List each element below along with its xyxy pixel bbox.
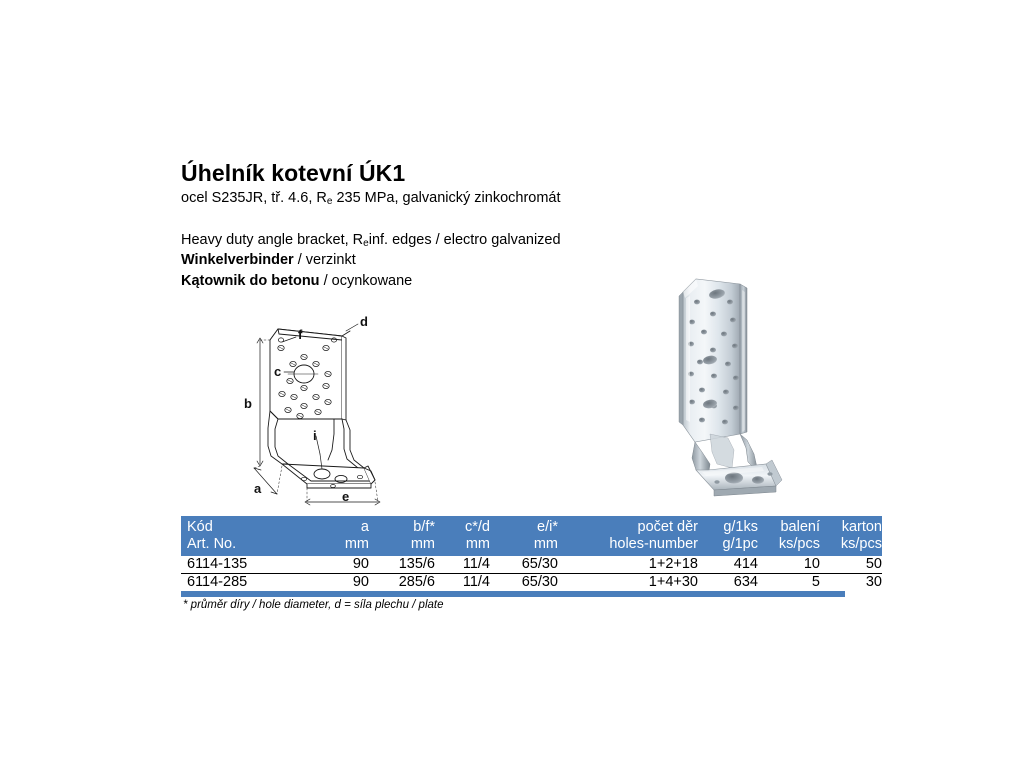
table-row: 6114-285 90 285/6 11/4 65/30 1+4+30 634 … bbox=[181, 574, 882, 592]
header-carton-cz: karton bbox=[820, 516, 882, 536]
drawing-label-i: i bbox=[313, 428, 317, 443]
header-pack-cz: balení bbox=[758, 516, 820, 536]
table-footnote: * průměr díry / hole diameter, d = síla … bbox=[181, 599, 845, 611]
table-row: 6114-135 90 135/6 11/4 65/30 1+2+18 414 … bbox=[181, 556, 882, 574]
header-bf-cz: b/f* bbox=[369, 516, 435, 536]
header-a-cz: a bbox=[311, 516, 369, 536]
cell-a: 90 bbox=[311, 574, 369, 592]
cell-code: 6114-135 bbox=[181, 556, 311, 574]
header-weight-en: g/1pc bbox=[698, 536, 758, 556]
cell-holes: 1+2+18 bbox=[558, 556, 698, 574]
product-photo bbox=[662, 262, 794, 502]
header-holes-en: holes-number bbox=[558, 536, 698, 556]
spec-text-pre: ocel S235JR, tř. 4.6, R bbox=[181, 190, 327, 206]
description-pl-post: / ocynkowane bbox=[320, 273, 413, 289]
header-pack-en: ks/pcs bbox=[758, 536, 820, 556]
cell-weight: 414 bbox=[698, 556, 758, 574]
description-en-subscript: e bbox=[363, 238, 369, 249]
header-cd-cz: c*/d bbox=[435, 516, 490, 536]
header-bf-en: mm bbox=[369, 536, 435, 556]
description-pl-bold: Kątownik do betonu bbox=[181, 273, 320, 289]
specification-table-container: Kód a b/f* c*/d e/i* počet děr g/1ks bal… bbox=[181, 516, 845, 611]
drawing-label-d: d bbox=[360, 316, 368, 329]
product-photo-svg bbox=[662, 262, 794, 502]
description-en-post: inf. edges / electro galvanized bbox=[369, 232, 561, 248]
header-holes-cz: počet děr bbox=[558, 516, 698, 536]
description-en-pre: Heavy duty angle bracket, R bbox=[181, 232, 363, 248]
table-body: 6114-135 90 135/6 11/4 65/30 1+2+18 414 … bbox=[181, 556, 882, 591]
header-code-cz: Kód bbox=[181, 516, 311, 536]
product-spec-line: ocel S235JR, tř. 4.6, Re 235 MPa, galvan… bbox=[181, 189, 861, 207]
cell-bf: 285/6 bbox=[369, 574, 435, 592]
header-cd-en: mm bbox=[435, 536, 490, 556]
cell-carton: 30 bbox=[820, 574, 882, 592]
technical-drawing-svg: b a c d e f i bbox=[238, 316, 398, 516]
description-en: Heavy duty angle bracket, Reinf. edges /… bbox=[181, 230, 861, 251]
table-bottom-accent-bar bbox=[181, 591, 845, 597]
description-de-post: / verzinkt bbox=[294, 252, 356, 268]
cell-pack: 5 bbox=[758, 574, 820, 592]
description-de-bold: Winkelverbinder bbox=[181, 252, 294, 268]
page-title: Úhelník kotevní ÚK1 bbox=[181, 160, 861, 186]
cell-weight: 634 bbox=[698, 574, 758, 592]
cell-cd: 11/4 bbox=[435, 574, 490, 592]
cell-carton: 50 bbox=[820, 556, 882, 574]
header-code-en: Art. No. bbox=[181, 536, 311, 556]
table-header-row-en: Art. No. mm mm mm mm holes-number g/1pc … bbox=[181, 536, 882, 556]
drawing-label-a: a bbox=[254, 481, 262, 496]
drawing-label-b: b bbox=[244, 396, 252, 411]
cell-code: 6114-285 bbox=[181, 574, 311, 592]
cell-cd: 11/4 bbox=[435, 556, 490, 574]
drawing-label-e: e bbox=[342, 489, 349, 504]
header-ei-en: mm bbox=[490, 536, 558, 556]
table-header-row-cz: Kód a b/f* c*/d e/i* počet děr g/1ks bal… bbox=[181, 516, 882, 536]
cell-pack: 10 bbox=[758, 556, 820, 574]
header-a-en: mm bbox=[311, 536, 369, 556]
spec-text-post: 235 MPa, galvanický zinkochromát bbox=[332, 190, 560, 206]
cell-bf: 135/6 bbox=[369, 556, 435, 574]
cell-ei: 65/30 bbox=[490, 556, 558, 574]
specification-table: Kód a b/f* c*/d e/i* počet děr g/1ks bal… bbox=[181, 516, 882, 591]
table-header: Kód a b/f* c*/d e/i* počet děr g/1ks bal… bbox=[181, 516, 882, 556]
header-weight-cz: g/1ks bbox=[698, 516, 758, 536]
technical-drawing: b a c d e f i bbox=[238, 316, 398, 516]
spec-subscript: e bbox=[327, 196, 333, 207]
drawing-label-f: f bbox=[298, 327, 303, 342]
cell-ei: 65/30 bbox=[490, 574, 558, 592]
drawing-label-c: c bbox=[274, 364, 281, 379]
cell-a: 90 bbox=[311, 556, 369, 574]
cell-holes: 1+4+30 bbox=[558, 574, 698, 592]
header-ei-cz: e/i* bbox=[490, 516, 558, 536]
header-carton-en: ks/pcs bbox=[820, 536, 882, 556]
